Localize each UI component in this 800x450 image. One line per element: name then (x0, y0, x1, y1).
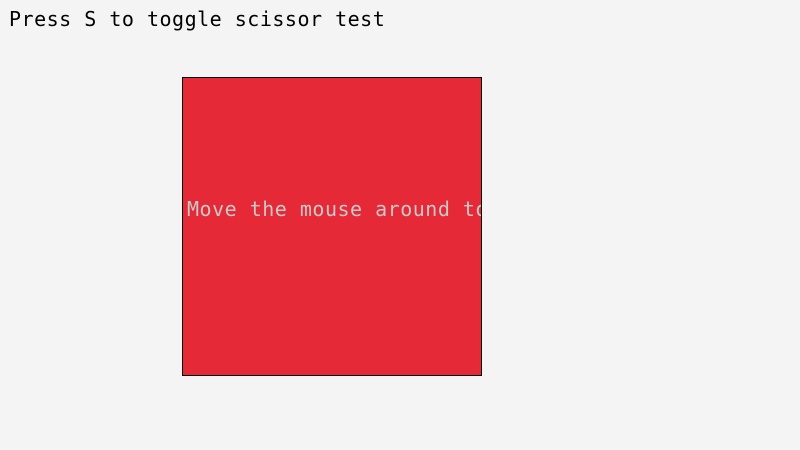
scissor-rectangle[interactable]: Move the mouse around to r (182, 77, 482, 376)
instruction-text: Press S to toggle scissor test (9, 7, 385, 31)
scissor-clipped-text: Move the mouse around to r (187, 197, 482, 221)
app-window: Press S to toggle scissor test Move the … (0, 0, 800, 450)
